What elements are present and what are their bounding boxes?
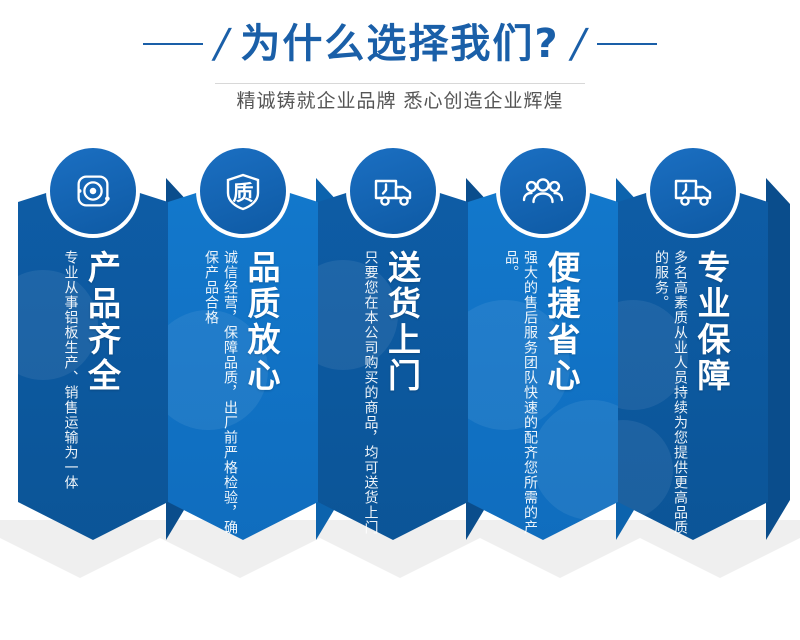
feature-panel-1[interactable]: 产品齐全 专业从事铝板生产、销售运输为一体 bbox=[18, 150, 168, 570]
feature-panel-2[interactable]: 质 品质放心 诚信经营，保障品质，出厂前严格检验，确保产品合格 bbox=[168, 150, 318, 570]
panel-title: 送货上门 bbox=[384, 250, 420, 394]
page-title: 为什么选择我们? bbox=[240, 21, 559, 67]
feature-panels: 产品齐全 专业从事铝板生产、销售运输为一体 质 品质放心 诚信经营，保障品质，出… bbox=[0, 150, 800, 590]
panel-description: 多名高素质从业人员持续为您提供更高品质的服务。 bbox=[651, 250, 689, 540]
panel-description: 专业从事铝板生产、销售运输为一体 bbox=[61, 250, 80, 490]
panel-text-column: 便捷省心 强大的售后服务团队快速的配齐您所需的产品。 bbox=[468, 250, 618, 550]
panel-text-column: 送货上门 只要您在本公司购买的商品，均可送货上门 bbox=[318, 250, 468, 550]
panel-text-column: 专业保障 多名高素质从业人员持续为您提供更高品质的服务。 bbox=[618, 250, 768, 550]
quality-shield-icon: 质 bbox=[196, 144, 290, 238]
product-box-icon bbox=[46, 144, 140, 238]
feature-panel-4[interactable]: 便捷省心 强大的售后服务团队快速的配齐您所需的产品。 bbox=[468, 150, 618, 570]
panel-title: 品质放心 bbox=[243, 250, 279, 394]
feature-panel-5[interactable]: 专业保障 多名高素质从业人员持续为您提供更高品质的服务。 bbox=[618, 150, 768, 570]
left-slash: / bbox=[211, 24, 233, 64]
panel-side-face bbox=[766, 150, 790, 570]
promo-banner: / 为什么选择我们? / 精诚铸就企业品牌 悉心创造企业辉煌 bbox=[0, 0, 800, 640]
title-row: / 为什么选择我们? / bbox=[0, 18, 800, 70]
subtitle: 精诚铸就企业品牌 悉心创造企业辉煌 bbox=[0, 88, 800, 114]
panel-title: 专业保障 bbox=[693, 250, 729, 394]
shield-character: 质 bbox=[200, 148, 286, 234]
people-group-icon bbox=[496, 144, 590, 238]
panel-text-column: 产品齐全 专业从事铝板生产、销售运输为一体 bbox=[18, 250, 168, 550]
right-rule bbox=[597, 43, 657, 45]
panel-description: 诚信经营，保障品质，出厂前严格检验，确保产品合格 bbox=[201, 250, 239, 540]
panel-text-column: 品质放心 诚信经营，保障品质，出厂前严格检验，确保产品合格 bbox=[168, 250, 318, 550]
delivery-truck-icon bbox=[646, 144, 740, 238]
header-section: / 为什么选择我们? / 精诚铸就企业品牌 悉心创造企业辉煌 bbox=[0, 0, 800, 130]
delivery-truck-icon bbox=[346, 144, 440, 238]
left-rule bbox=[143, 43, 203, 45]
panel-title: 产品齐全 bbox=[84, 250, 120, 394]
feature-panel-3[interactable]: 送货上门 只要您在本公司购买的商品，均可送货上门 bbox=[318, 150, 468, 570]
right-slash: / bbox=[567, 24, 589, 64]
panel-title: 便捷省心 bbox=[543, 250, 579, 394]
panel-description: 强大的售后服务团队快速的配齐您所需的产品。 bbox=[501, 250, 539, 540]
subtitle-divider bbox=[215, 83, 585, 84]
panel-description: 只要您在本公司购买的商品，均可送货上门 bbox=[361, 250, 380, 535]
